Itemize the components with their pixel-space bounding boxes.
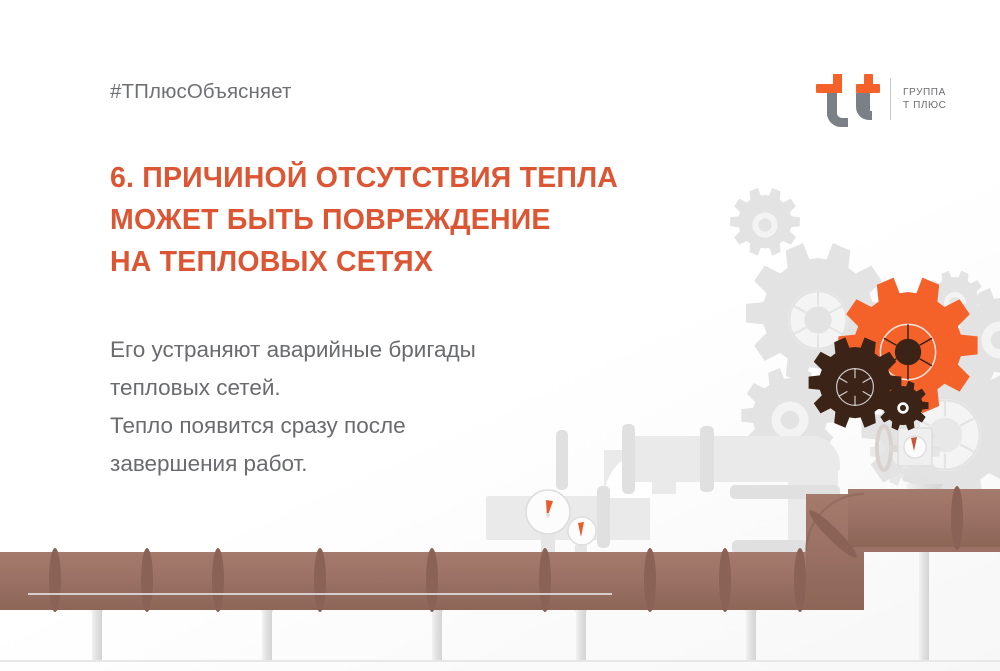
brand-logo: ГРУППА Т ПЛЮС	[812, 68, 964, 130]
gauge-dial-small	[568, 517, 596, 545]
pipe-supports	[78, 484, 943, 662]
foreground-heating-pipeline	[0, 484, 1000, 662]
body-line-3: Тепло появится сразу после	[110, 407, 476, 445]
gauge-box	[898, 428, 932, 466]
gear-orange	[838, 278, 977, 414]
pressure-gauges	[518, 490, 614, 596]
logo-wordmark: ГРУППА Т ПЛЮС	[903, 86, 946, 112]
body-text: Его устраняют аварийные бригады тепловых…	[110, 331, 476, 483]
headline-line-1: 6. ПРИЧИНОЙ ОТСУТСТВИЯ ТЕПЛА	[110, 157, 618, 199]
background-pipe-system	[486, 424, 840, 585]
gear-dark	[809, 337, 902, 427]
hashtag-label: #ТПлюсОбъясняет	[110, 80, 291, 104]
slide-canvas: #ТПлюсОбъясняет 6. ПРИЧИНОЙ ОТСУТСТВИЯ Т…	[0, 0, 1000, 671]
page-title: 6. ПРИЧИНОЙ ОТСУТСТВИЯ ТЕПЛА МОЖЕТ БЫТЬ …	[110, 157, 618, 283]
headline-line-3: НА ТЕПЛОВЫХ СЕТЯХ	[110, 241, 618, 283]
body-line-2: тепловых сетей.	[110, 369, 476, 407]
decorative-gears-colored	[809, 278, 978, 431]
valve-assembly	[877, 426, 932, 483]
logo-line-1: ГРУППА	[903, 86, 946, 99]
pipe-flanges-brown	[49, 486, 963, 612]
logo-line-2: Т ПЛЮС	[903, 99, 946, 112]
headline-line-2: МОЖЕТ БЫТЬ ПОВРЕЖДЕНИЕ	[110, 199, 618, 241]
body-line-1: Его устраняют аварийные бригады	[110, 331, 476, 369]
decorative-gears-gray	[730, 188, 1000, 509]
gauge-dial-large	[526, 490, 570, 534]
body-line-4: завершения работ.	[110, 445, 476, 483]
gear-dark-small	[877, 381, 928, 431]
logo-divider	[890, 78, 891, 120]
pipe-flanges-gray	[556, 424, 840, 554]
t-plus-logo-mark-icon	[812, 70, 886, 128]
